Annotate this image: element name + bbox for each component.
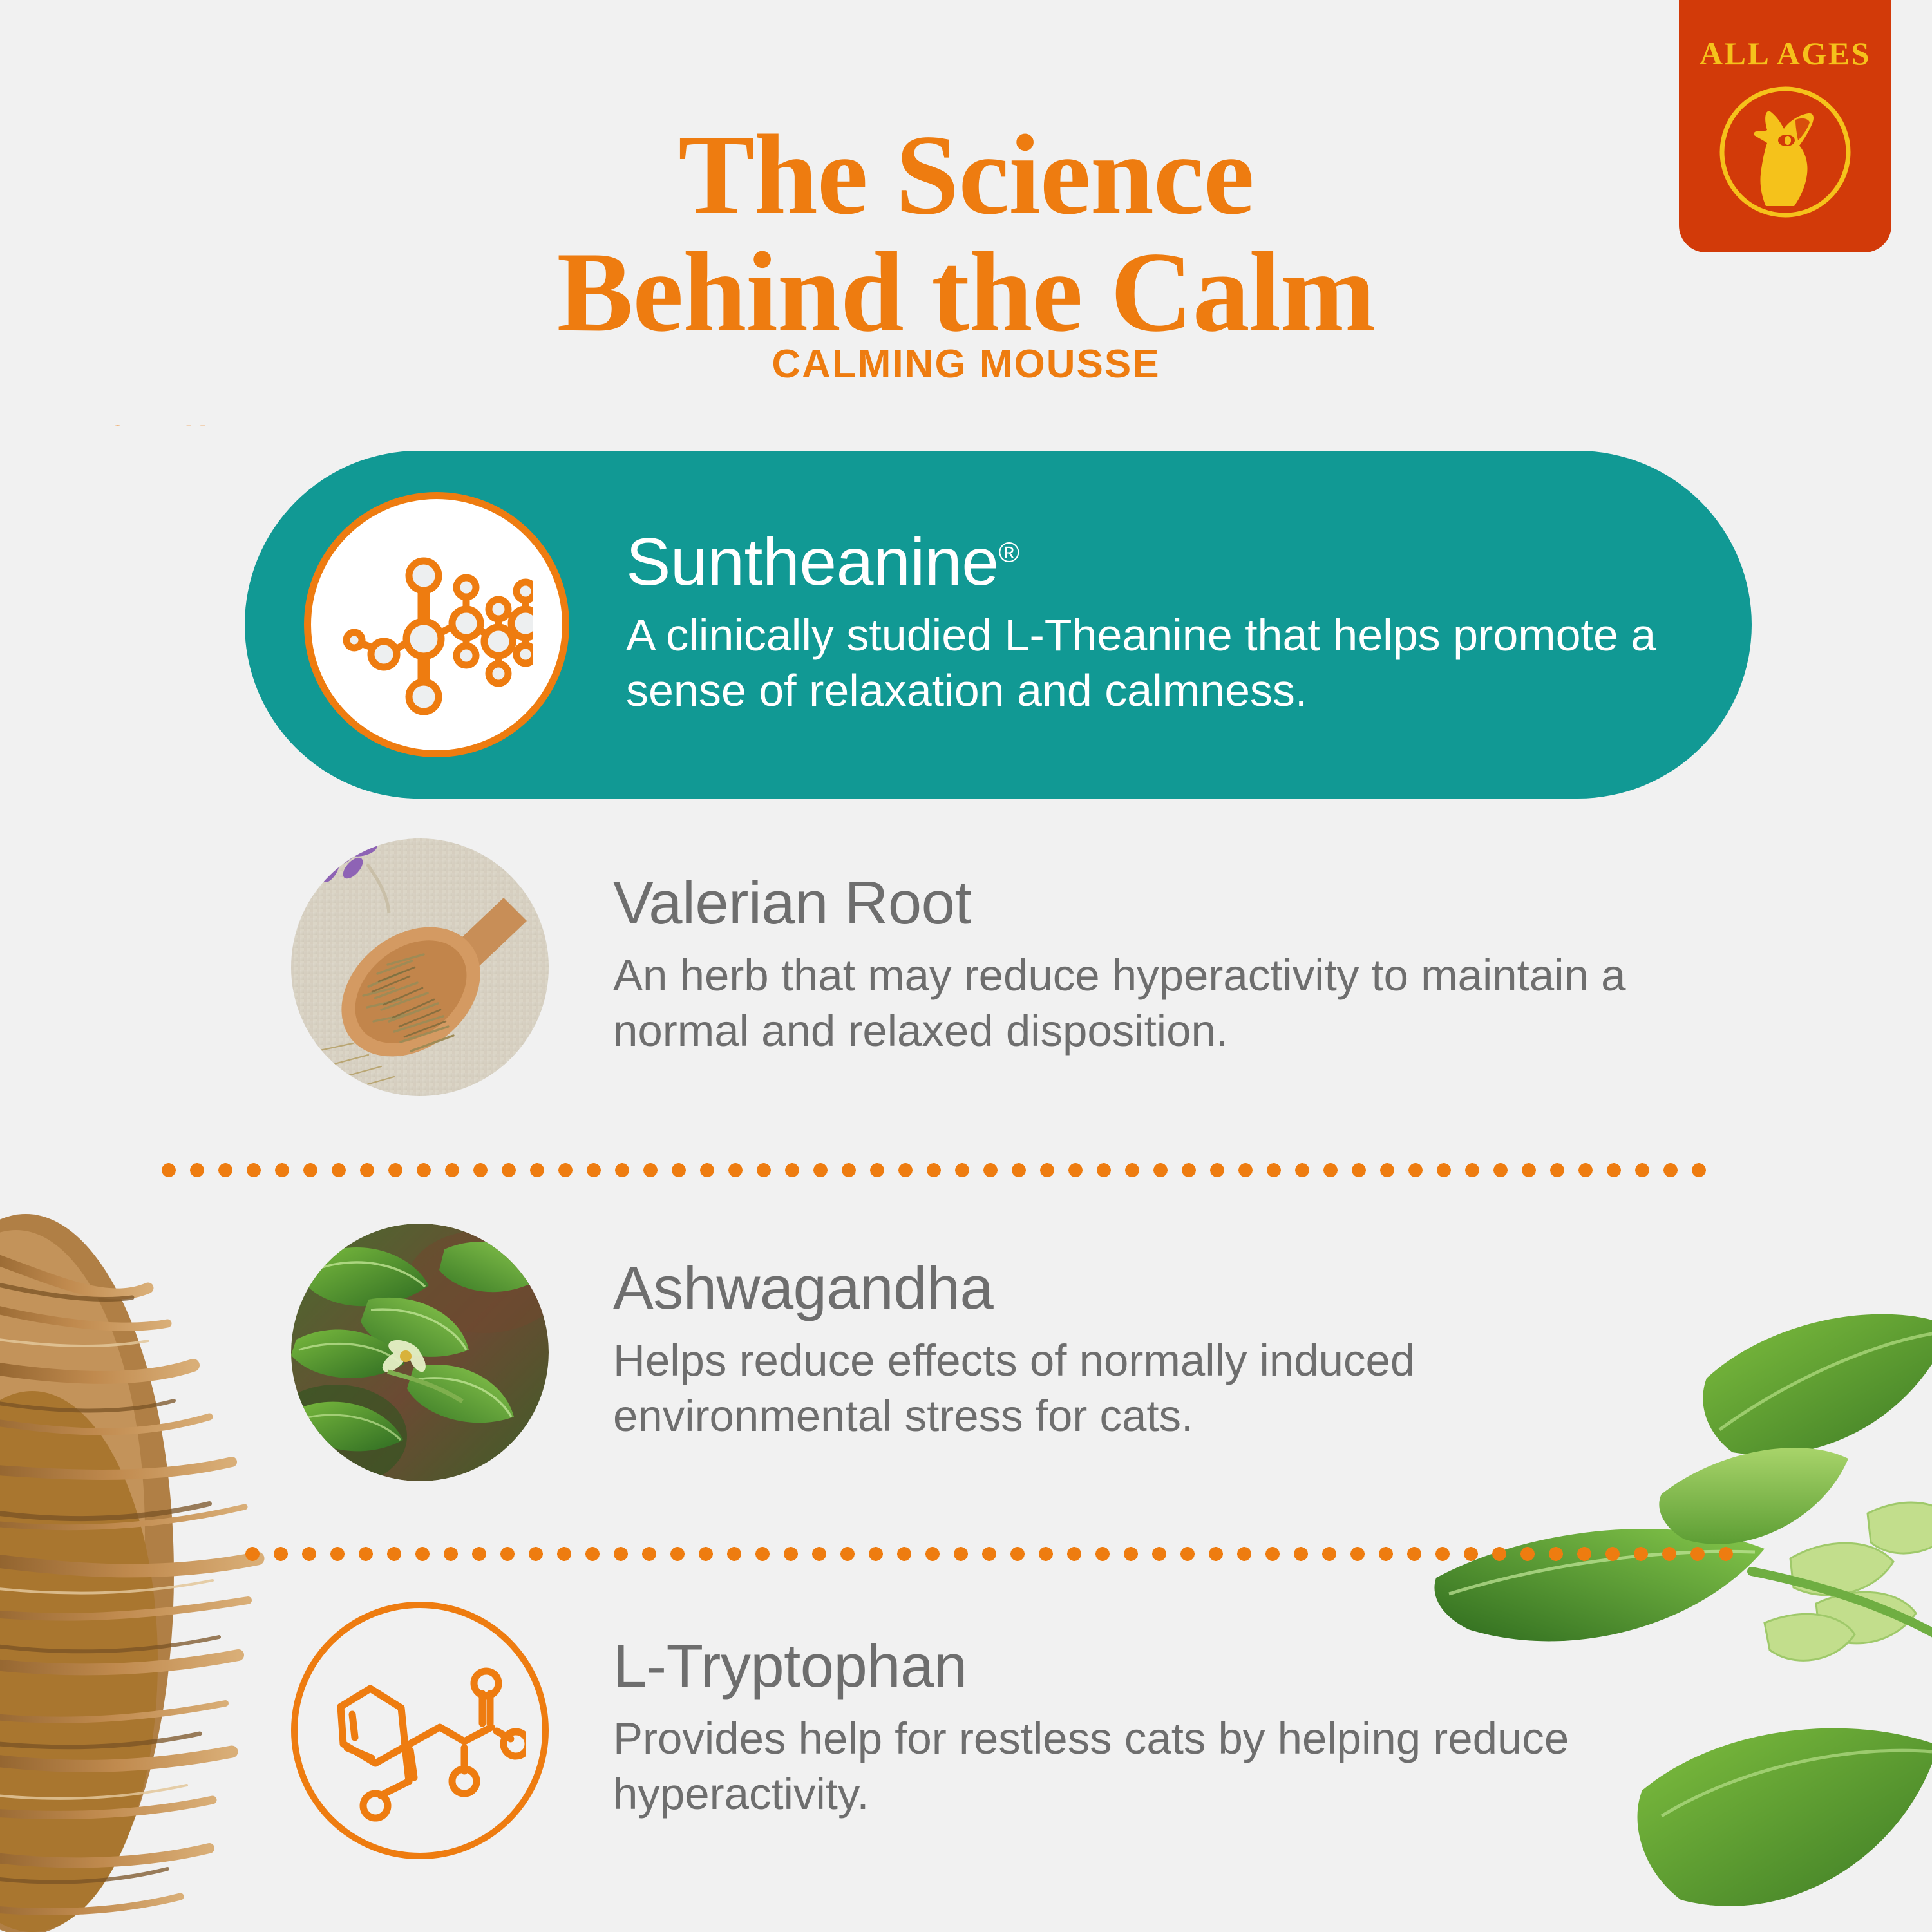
page-title: The Science Behind the Calm: [0, 117, 1932, 350]
l-tryptophan-copy: L-Tryptophan Provides help for restless …: [613, 1602, 1695, 1822]
ashwagandha-title: Ashwagandha: [613, 1257, 1695, 1319]
ingredient-row-l-tryptophan: L-Tryptophan Provides help for restless …: [291, 1602, 1695, 1859]
valerian-root-description: An herb that may reduce hyperactivity to…: [613, 948, 1695, 1059]
valerian-root-title: Valerian Root: [613, 872, 1695, 934]
ashwagandha-leaves-photo: [291, 1224, 549, 1481]
all-ages-label: ALL AGES: [1700, 35, 1871, 72]
valerian-root-photo: [291, 838, 549, 1096]
title-line-2: Behind the Calm: [0, 234, 1932, 351]
ingredient-row-ashwagandha: Ashwagandha Helps reduce effects of norm…: [291, 1224, 1695, 1481]
dotted-divider: [238, 1547, 1739, 1561]
page-subtitle: CALMING MOUSSE: [0, 341, 1932, 387]
tryptophan-molecule-icon: [291, 1602, 549, 1859]
molecule-structure-icon: [304, 492, 569, 757]
suntheanine-hero-card: Suntheanine® A clinically studied L-Thea…: [245, 451, 1752, 799]
trademark-symbol: ®: [999, 536, 1019, 568]
suntheanine-name: Suntheanine: [626, 525, 999, 600]
dotted-divider: [155, 1163, 1713, 1177]
l-tryptophan-description: Provides help for restless cats by helpi…: [613, 1711, 1695, 1823]
infographic-canvas: ALL AGES The Science Behind the Calm CAL…: [0, 0, 1932, 1932]
suntheanine-copy: Suntheanine® A clinically studied L-Thea…: [626, 527, 1721, 718]
powered-by-text: POWERED BY: [84, 425, 303, 431]
ingredient-row-valerian-root: Valerian Root An herb that may reduce hy…: [291, 838, 1695, 1096]
ashwagandha-copy: Ashwagandha Helps reduce effects of norm…: [613, 1224, 1695, 1444]
title-line-1: The Science: [0, 117, 1932, 234]
l-tryptophan-title: L-Tryptophan: [613, 1635, 1695, 1697]
ashwagandha-description: Helps reduce effects of normally induced…: [613, 1333, 1695, 1444]
suntheanine-title: Suntheanine®: [626, 527, 1721, 598]
valerian-root-copy: Valerian Root An herb that may reduce hy…: [613, 838, 1695, 1059]
suntheanine-description: A clinically studied L-Theanine that hel…: [626, 608, 1721, 718]
